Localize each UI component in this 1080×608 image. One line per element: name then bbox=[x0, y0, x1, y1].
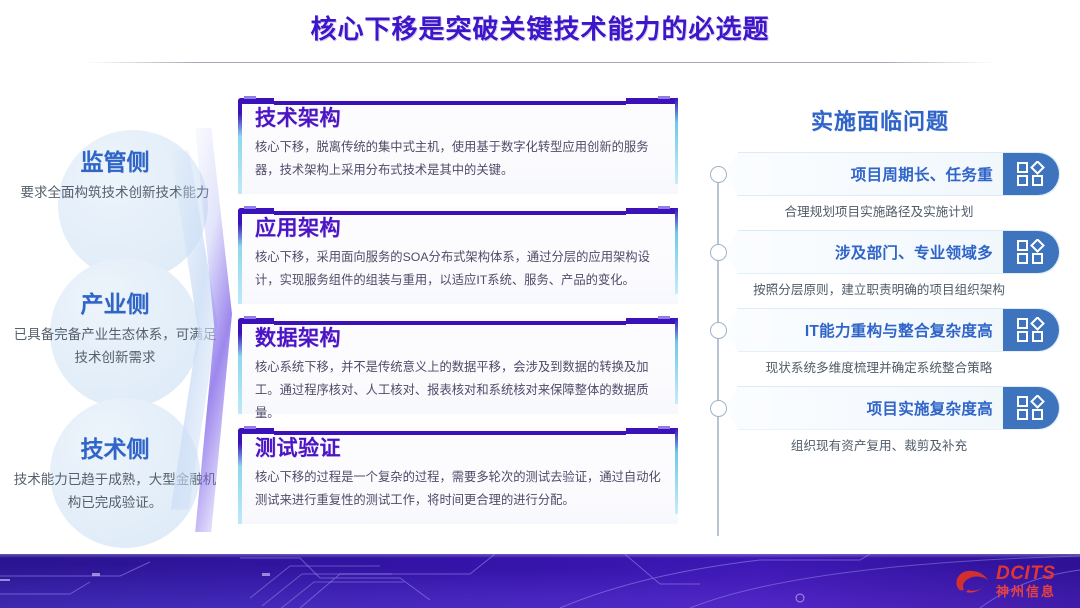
card-test-verification: 测试验证 核心下移的过程是一个复杂的过程，需要多轮次的测试去验证，通过自动化测试… bbox=[238, 426, 678, 524]
footer-band: DCITS 神州信息 bbox=[0, 554, 1080, 608]
right-column-heading: 实施面临问题 bbox=[700, 104, 1060, 136]
timeline-item-3: IT能力重构与整合复杂度高 现状系统多维度梳理并确定系统整合策略 bbox=[700, 308, 1060, 380]
card-text: 核心系统下移，并不是传统意义上的数据平移，会涉及到数据的转换及加工。通过程序核对… bbox=[255, 356, 662, 424]
card-title: 应用架构 bbox=[255, 216, 662, 242]
problem-subtext: 合理规划项目实施路径及实施计划 bbox=[724, 196, 1060, 224]
problem-subtext: 按照分层原则，建立职责明确的项目组织架构 bbox=[724, 274, 1060, 302]
card-title: 技术架构 bbox=[255, 106, 662, 132]
timeline-dot-icon bbox=[710, 400, 727, 417]
timeline-item-1: 项目周期长、任务重 合理规划项目实施路径及实施计划 bbox=[700, 152, 1060, 224]
timeline-item-4: 项目实施复杂度高 组织现有资产复用、裁剪及补充 bbox=[700, 386, 1060, 458]
slide-root: 核心下移是突破关键技术能力的必选题 监管侧 要求全面构筑技术创新技术能力 产业侧… bbox=[0, 0, 1080, 608]
problem-subtext: 现状系统多维度梳理并确定系统整合策略 bbox=[724, 352, 1060, 380]
card-tech-architecture: 技术架构 核心下移，脱离传统的集中式主机，使用基于数字化转型应用创新的服务器，技… bbox=[238, 96, 678, 194]
problem-pill[interactable]: 涉及部门、专业领域多 bbox=[724, 230, 1060, 274]
circuit-pattern-icon bbox=[0, 554, 1080, 608]
problem-pill[interactable]: IT能力重构与整合复杂度高 bbox=[724, 308, 1060, 352]
card-application-architecture: 应用架构 核心下移，采用面向服务的SOA分布式架构体系，通过分层的应用架构设计，… bbox=[238, 206, 678, 304]
timeline-dot-icon bbox=[710, 244, 727, 261]
logo-text: DCITS 神州信息 bbox=[996, 564, 1056, 598]
logo-en: DCITS bbox=[996, 564, 1056, 583]
architecture-cards: 技术架构 核心下移，脱离传统的集中式主机，使用基于数字化转型应用创新的服务器，技… bbox=[238, 96, 678, 536]
squares-diamond-icon bbox=[1003, 387, 1059, 429]
problem-label: IT能力重构与整合复杂度高 bbox=[805, 319, 1003, 341]
timeline-item-2: 涉及部门、专业领域多 按照分层原则，建立职责明确的项目组织架构 bbox=[700, 230, 1060, 302]
card-text: 核心下移，脱离传统的集中式主机，使用基于数字化转型应用创新的服务器，技术架构上采… bbox=[255, 136, 662, 181]
squares-diamond-icon bbox=[1003, 231, 1059, 273]
problem-pill[interactable]: 项目周期长、任务重 bbox=[724, 152, 1060, 196]
side-description: 技术能力已趋于成熟，大型金融机构已完成验证。 bbox=[0, 468, 230, 515]
brand-logo: DCITS 神州信息 bbox=[952, 561, 1056, 601]
card-text: 核心下移，采用面向服务的SOA分布式架构体系，通过分层的应用架构设计，实现服务组… bbox=[255, 246, 662, 291]
logo-cn: 神州信息 bbox=[996, 585, 1056, 598]
squares-diamond-icon bbox=[1003, 153, 1059, 195]
page-title: 核心下移是突破关键技术能力的必选题 bbox=[0, 14, 1080, 45]
problem-label: 涉及部门、专业领域多 bbox=[835, 241, 1003, 263]
side-heading: 监管侧 bbox=[0, 148, 230, 177]
title-divider bbox=[86, 62, 994, 63]
problem-pill[interactable]: 项目实施复杂度高 bbox=[724, 386, 1060, 430]
card-data-architecture: 数据架构 核心系统下移，并不是传统意义上的数据平移，会涉及到数据的转换及加工。通… bbox=[238, 316, 678, 414]
card-title: 数据架构 bbox=[255, 326, 662, 352]
timeline-dot-icon bbox=[710, 322, 727, 339]
problem-subtext: 组织现有资产复用、裁剪及补充 bbox=[724, 430, 1060, 458]
card-text: 核心下移的过程是一个复杂的过程，需要多轮次的测试去验证，通过自动化测试来进行重复… bbox=[255, 466, 662, 511]
squares-diamond-icon bbox=[1003, 309, 1059, 351]
card-title: 测试验证 bbox=[255, 436, 662, 462]
problem-label: 项目实施复杂度高 bbox=[867, 397, 1003, 419]
right-column: 实施面临问题 项目周期长、任务重 合理规划项目实施路径及实施计划 bbox=[700, 104, 1060, 544]
logo-swoosh-icon bbox=[952, 566, 992, 596]
problem-label: 项目周期长、任务重 bbox=[851, 163, 1003, 185]
timeline-dot-icon bbox=[710, 166, 727, 183]
page-title-container: 核心下移是突破关键技术能力的必选题 bbox=[0, 14, 1080, 45]
